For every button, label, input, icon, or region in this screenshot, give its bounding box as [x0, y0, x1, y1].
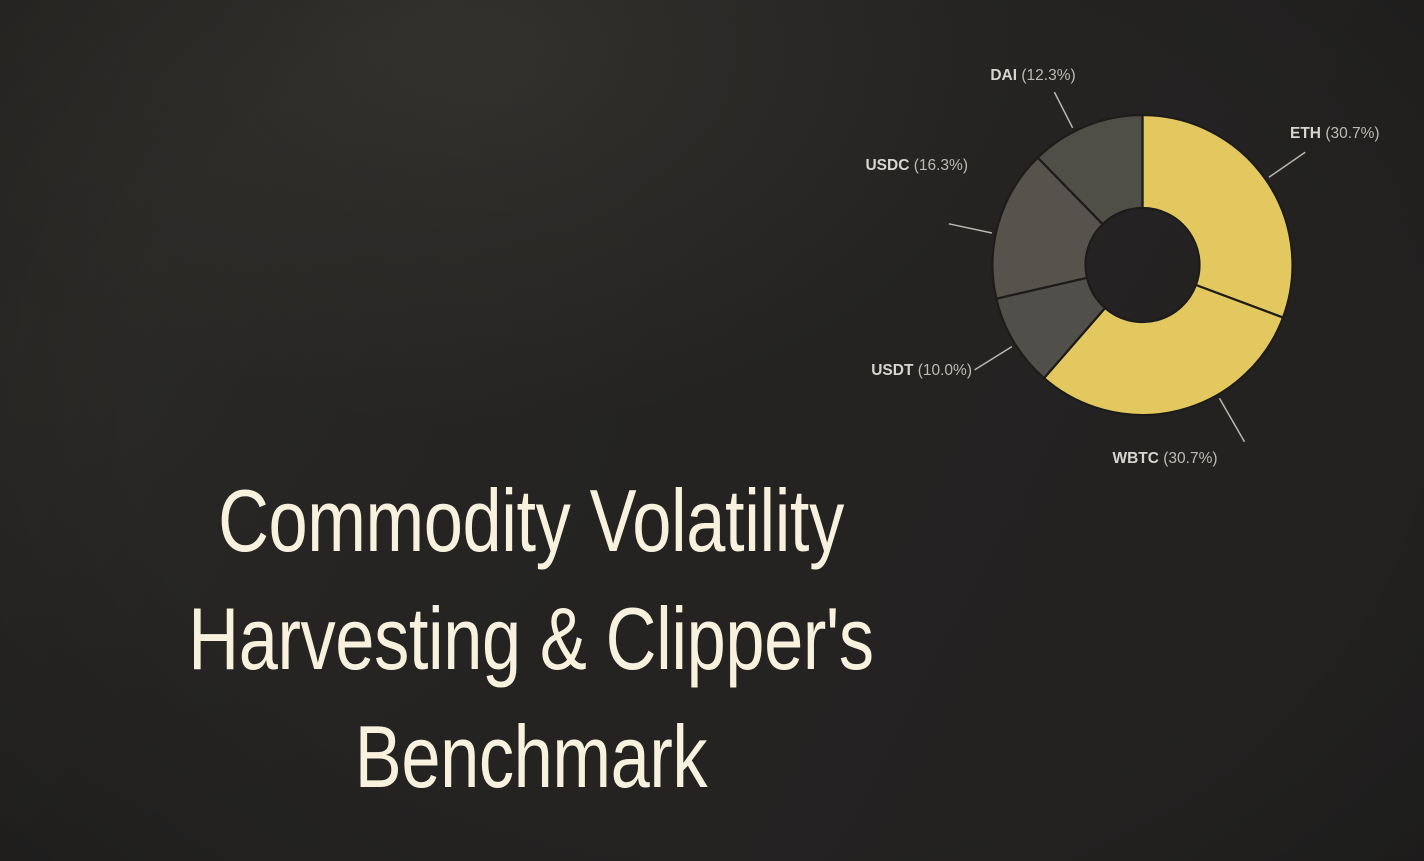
- slice-label-usdc: USDC (16.3%): [865, 157, 968, 174]
- page-title: Commodity Volatility Harvesting & Clippe…: [106, 462, 956, 816]
- leader-line-dai: [1054, 92, 1072, 128]
- slice-label-eth: ETH (30.7%): [1290, 125, 1380, 142]
- slice-label-usdt: USDT (10.0%): [871, 362, 972, 379]
- slice-label-ticker: DAI: [990, 67, 1021, 84]
- slice-label-percent: (30.7%): [1325, 125, 1379, 142]
- slice-label-percent: (10.0%): [918, 362, 972, 379]
- slice-label-ticker: USDT: [871, 362, 918, 379]
- leader-line-usdc: [949, 224, 992, 233]
- slide-canvas: ETH (30.7%)WBTC (30.7%)USDT (10.0%)USDC …: [0, 0, 1424, 861]
- donut-chart-svg: ETH (30.7%)WBTC (30.7%)USDT (10.0%)USDC …: [820, 20, 1420, 500]
- page-title-line-3: Benchmark: [106, 698, 956, 816]
- donut-slice-eth: [1143, 115, 1293, 318]
- leader-line-wbtc: [1220, 398, 1245, 441]
- slice-label-percent: (16.3%): [914, 157, 968, 174]
- leader-line-usdt: [975, 347, 1012, 370]
- page-title-line-1: Commodity Volatility: [106, 462, 956, 580]
- slice-label-ticker: USDC: [865, 157, 913, 174]
- leader-line-eth: [1269, 152, 1305, 177]
- slice-label-ticker: WBTC: [1112, 450, 1163, 467]
- slice-label-ticker: ETH: [1290, 125, 1325, 142]
- donut-chart: ETH (30.7%)WBTC (30.7%)USDT (10.0%)USDC …: [820, 20, 1420, 500]
- page-title-line-2: Harvesting & Clipper's: [106, 580, 956, 698]
- slice-label-percent: (30.7%): [1163, 450, 1217, 467]
- slice-label-dai: DAI (12.3%): [990, 67, 1075, 84]
- donut-slices: [993, 115, 1293, 415]
- slice-label-wbtc: WBTC (30.7%): [1112, 450, 1217, 467]
- slice-label-percent: (12.3%): [1021, 67, 1075, 84]
